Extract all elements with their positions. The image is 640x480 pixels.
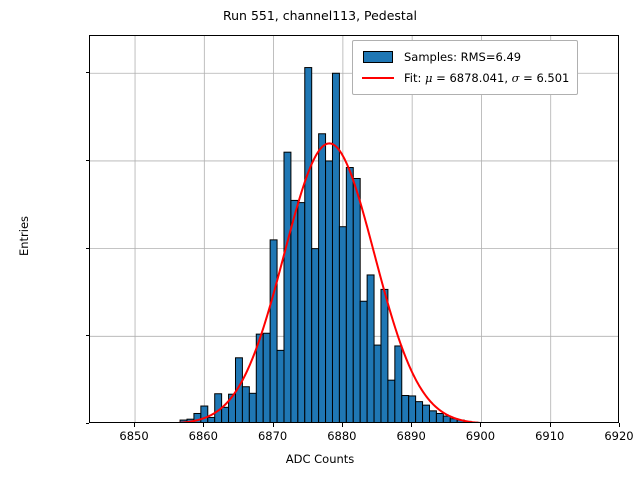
histogram-bar — [201, 406, 208, 423]
x-axis-tick-label: 6900 — [466, 429, 495, 443]
y-axis-tick-mark — [86, 248, 90, 249]
histogram-bar — [353, 178, 360, 423]
legend-fit-prefix: Fit: — [404, 71, 425, 85]
y-axis-tick-mark — [86, 160, 90, 161]
x-axis-tick-mark — [411, 423, 412, 427]
histogram-bar — [305, 68, 312, 423]
histogram-bar — [402, 396, 409, 423]
x-axis-tick-label: 6870 — [258, 429, 287, 443]
legend-label-samples: Samples: RMS=6.49 — [404, 50, 521, 64]
histogram-bar — [416, 402, 423, 423]
y-axis-label: Entries — [17, 136, 31, 336]
histogram-bar — [319, 134, 326, 423]
histogram-bar — [242, 387, 249, 423]
histogram-bar — [367, 275, 374, 423]
histogram-bar — [263, 333, 270, 423]
legend-fit-sigma-symbol: σ — [512, 71, 520, 85]
chart-figure: Run 551, channel113, Pedestal 0200004000… — [0, 0, 640, 480]
histogram-bar — [443, 416, 450, 423]
histogram-bars — [180, 68, 513, 423]
legend-swatch-samples-icon — [361, 50, 395, 63]
x-axis-tick-mark — [273, 423, 274, 427]
histogram-bar — [277, 350, 284, 423]
x-axis-tick-mark — [203, 423, 204, 427]
legend-item-samples: Samples: RMS=6.49 — [361, 46, 569, 67]
legend-label-fit: Fit: μ = 6878.041, σ = 6.501 — [404, 71, 569, 85]
legend-fit-mu-symbol: μ — [425, 71, 432, 85]
histogram-bar — [395, 346, 402, 423]
histogram-bar — [346, 168, 353, 423]
histogram-bar — [381, 289, 388, 423]
legend-swatch-fit-icon — [361, 71, 395, 84]
histogram-bar — [423, 405, 430, 423]
x-axis-tick-mark — [550, 423, 551, 427]
legend-fit-mu-value: = 6878.041, — [433, 71, 512, 85]
legend: Samples: RMS=6.49 Fit: μ = 6878.041, σ =… — [352, 40, 578, 95]
y-axis-tick-mark — [86, 423, 90, 424]
histogram-bar — [249, 393, 256, 423]
legend-fit-sigma-value: = 6.501 — [520, 71, 570, 85]
x-axis-tick-mark — [480, 423, 481, 427]
histogram-bar — [388, 380, 395, 423]
histogram-bar — [429, 411, 436, 423]
histogram-bar — [409, 396, 416, 423]
y-axis-tick-mark — [86, 335, 90, 336]
x-axis-tick-mark — [342, 423, 343, 427]
histogram-bar — [332, 73, 339, 423]
histogram-bar — [471, 422, 478, 423]
histogram-bar — [436, 413, 443, 423]
histogram-bar — [208, 417, 215, 423]
x-axis-label: ADC Counts — [0, 452, 640, 466]
histogram-bar — [360, 301, 367, 423]
x-axis-tick-label: 6890 — [397, 429, 426, 443]
histogram-bar — [270, 240, 277, 423]
histogram-bar — [291, 200, 298, 423]
x-axis-tick-label: 6850 — [119, 429, 148, 443]
histogram-bar — [312, 249, 319, 423]
histogram-bar — [222, 407, 229, 423]
x-axis-tick-label: 6910 — [535, 429, 564, 443]
y-axis-tick-mark — [86, 72, 90, 73]
histogram-bar — [339, 227, 346, 423]
histogram-bar — [284, 152, 291, 423]
histogram-bar — [326, 161, 333, 423]
histogram-bar — [298, 203, 305, 423]
x-axis-tick-mark — [619, 423, 620, 427]
legend-item-fit: Fit: μ = 6878.041, σ = 6.501 — [361, 67, 569, 88]
x-axis-tick-label: 6880 — [327, 429, 356, 443]
histogram-bar — [374, 345, 381, 423]
page-title: Run 551, channel113, Pedestal — [0, 8, 640, 23]
x-axis-tick-mark — [134, 423, 135, 427]
x-axis-tick-label: 6860 — [189, 429, 218, 443]
x-axis-tick-label: 6920 — [604, 429, 633, 443]
